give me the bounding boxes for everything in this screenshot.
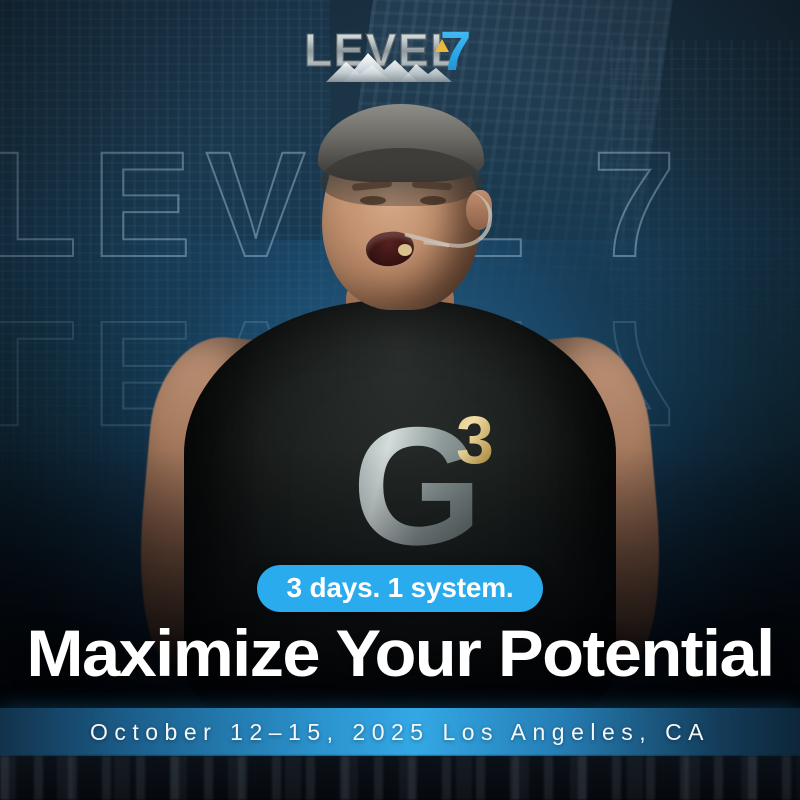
badge-row: 3 days. 1 system. xyxy=(0,565,800,612)
audience-silhouettes xyxy=(0,756,800,800)
shirt-g3-logo: G 3 xyxy=(352,396,512,544)
level7-logo: LEVEL 7 xyxy=(300,22,500,84)
tagline-badge: 3 days. 1 system. xyxy=(257,565,544,612)
event-promo-poster: LEVEL 7 LEVEL 7 G 3 xyxy=(0,0,800,800)
poster-footer-content: 3 days. 1 system. Maximize Your Potentia… xyxy=(0,565,800,800)
date-location-band: October 12–15, 2025 Los Angeles, CA xyxy=(0,708,800,756)
speaker-eye-left xyxy=(360,196,386,205)
headline: Maximize Your Potential xyxy=(0,620,800,686)
shirt-logo-superscript: 3 xyxy=(456,406,494,474)
date-location-text: October 12–15, 2025 Los Angeles, CA xyxy=(90,719,710,746)
headset-microphone-tip xyxy=(398,244,412,256)
